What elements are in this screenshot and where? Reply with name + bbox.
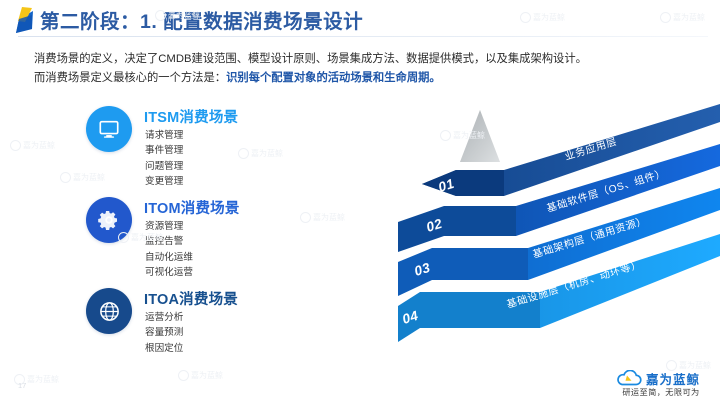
- scenario-itsm[interactable]: ITSM消费场景 请求管理 事件管理 问题管理 变更管理: [86, 104, 316, 195]
- layered-pyramid-diagram: 01 业务应用层 02 基础软件层（OS、组件） 03 基础架构层（通用资源） …: [398, 100, 720, 372]
- scenario-title: ITOA消费场景: [144, 288, 238, 309]
- scenario-title: ITSM消费场景: [144, 106, 238, 127]
- page-title: 第二阶段：1. 配置数据消费场景设计: [40, 5, 363, 34]
- intro-line-2-prefix: 而消费场景定义最核心的一个方法是：: [34, 72, 226, 84]
- bolt-parallelogram-logo: [13, 7, 35, 33]
- gear-icon: [86, 197, 132, 243]
- list-item: 事件管理: [145, 143, 183, 158]
- scenario-items: 运营分析 容量预测 根因定位: [145, 310, 183, 356]
- footer-tagline: 研运至简，无限可为: [612, 386, 710, 398]
- watermark-text: 嘉为蓝鲸: [191, 370, 223, 381]
- list-item: 请求管理: [145, 128, 183, 143]
- watermark-cloud-icon: [178, 370, 189, 381]
- list-item: 问题管理: [145, 159, 183, 174]
- watermark-cloud-icon: [60, 172, 71, 183]
- list-item: 可视化运营: [145, 265, 193, 280]
- globe-icon: [86, 288, 132, 334]
- scenario-itoa[interactable]: ITOA消费场景 运营分析 容量预测 根因定位: [86, 286, 316, 366]
- intro-paragraph: 消费场景的定义，决定了CMDB建设范围、模型设计原则、场景集成方法、数据提供模式…: [34, 50, 694, 88]
- title-divider: [18, 36, 708, 37]
- consumption-scenario-list: ITSM消费场景 请求管理 事件管理 问题管理 变更管理 ITOM消费场景 资源…: [86, 104, 316, 366]
- page-number: 17: [18, 381, 26, 390]
- slide-header: 第二阶段：1. 配置数据消费场景设计: [0, 0, 720, 40]
- intro-line-2: 而消费场景定义最核心的一个方法是：识别每个配置对象的活动场景和生命周期。: [34, 69, 694, 88]
- intro-line-1: 消费场景的定义，决定了CMDB建设范围、模型设计原则、场景集成方法、数据提供模式…: [34, 50, 694, 69]
- scenario-items: 资源管理 监控告警 自动化运维 可视化运营: [145, 219, 193, 281]
- watermark-text: 嘉为蓝鲸: [23, 140, 55, 151]
- list-item: 变更管理: [145, 174, 183, 189]
- footer-brand-logo: 嘉为蓝鲸 研运至简，无限可为: [612, 368, 710, 400]
- watermark-cloud-icon: [10, 140, 21, 151]
- scenario-title: ITOM消费场景: [144, 197, 240, 218]
- list-item: 监控告警: [145, 234, 193, 249]
- scenario-items: 请求管理 事件管理 问题管理 变更管理: [145, 128, 183, 190]
- monitor-icon: [86, 106, 132, 152]
- list-item: 运营分析: [145, 310, 183, 325]
- watermark-text: 嘉为蓝鲸: [313, 212, 345, 223]
- watermark: 嘉为蓝鲸: [178, 370, 223, 381]
- list-item: 容量预测: [145, 325, 183, 340]
- list-item: 资源管理: [145, 219, 193, 234]
- watermark-text: 嘉为蓝鲸: [27, 374, 59, 385]
- intro-line-2-emphasis: 识别每个配置对象的活动场景和生命周期。: [226, 72, 441, 84]
- list-item: 根因定位: [145, 341, 183, 356]
- pyramid-apex: [460, 110, 500, 162]
- watermark: 嘉为蓝鲸: [10, 140, 55, 151]
- scenario-itom[interactable]: ITOM消费场景 资源管理 监控告警 自动化运维 可视化运营: [86, 195, 316, 286]
- list-item: 自动化运维: [145, 250, 193, 265]
